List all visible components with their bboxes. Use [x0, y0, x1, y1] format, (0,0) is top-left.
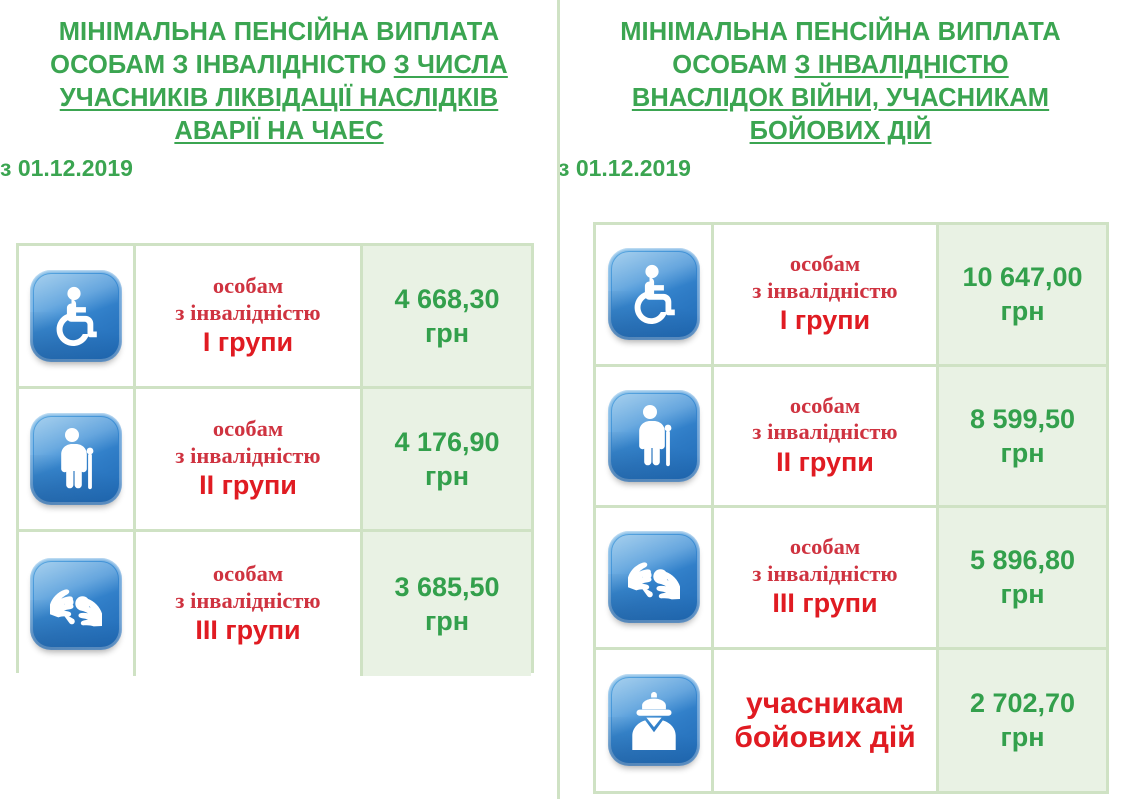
value-cell: 2 702,70 грн	[939, 650, 1106, 792]
sign-language-hands-icon	[30, 558, 122, 650]
value-amount: 2 702,70	[970, 688, 1075, 718]
person-with-cane-icon	[30, 413, 122, 505]
icon-cell	[596, 508, 714, 647]
row-label: учасникам бойових дій	[720, 686, 930, 755]
row-label: особам з інвалідністю ІІІ групи	[752, 534, 897, 620]
value-currency: грн	[970, 436, 1075, 470]
sign-language-hands-icon	[608, 531, 700, 623]
row-value: 4 176,90 грн	[394, 425, 499, 493]
value-amount: 8 599,50	[970, 404, 1075, 434]
label-cell: особам з інвалідністю І групи	[136, 246, 363, 386]
label-line-top: особам	[175, 416, 320, 443]
table-row: особам з інвалідністю ІІІ групи 3 685,50…	[19, 532, 531, 676]
label-line-mid: з інвалідністю	[752, 561, 897, 588]
row-value: 8 599,50 грн	[970, 402, 1075, 470]
value-currency: грн	[394, 604, 499, 638]
value-currency: грн	[962, 294, 1082, 328]
label-line-top: особам	[752, 393, 897, 420]
person-with-cane-icon	[608, 390, 700, 482]
table-row: особам з інвалідністю ІІ групи 8 599,50 …	[596, 367, 1106, 509]
right-title: МІНІМАЛЬНА ПЕНСІЙНА ВИПЛАТА ОСОБАМ З ІНВ…	[558, 16, 1123, 149]
label-line-group: ІІІ групи	[752, 588, 897, 620]
label-cell: особам з інвалідністю ІІ групи	[136, 389, 363, 529]
icon-cell	[596, 225, 714, 364]
label-line-group: І групи	[752, 305, 897, 337]
value-currency: грн	[394, 459, 499, 493]
row-value: 4 668,30 грн	[394, 282, 499, 350]
value-cell: 4 176,90 грн	[363, 389, 531, 529]
value-currency: грн	[394, 316, 499, 350]
row-label: особам з інвалідністю ІІІ групи	[175, 561, 320, 647]
label-line-group: ІІ групи	[752, 447, 897, 479]
label-line-mid: з інвалідністю	[175, 300, 320, 327]
value-currency: грн	[970, 720, 1075, 754]
label-line-mid: з інвалідністю	[175, 588, 320, 615]
wheelchair-icon	[30, 270, 122, 362]
left-panel: МІНІМАЛЬНА ПЕНСІЙНА ВИПЛАТА ОСОБАМ З ІНВ…	[0, 0, 558, 799]
value-amount: 4 668,30	[394, 284, 499, 314]
right-pension-table: особам з інвалідністю І групи 10 647,00 …	[593, 222, 1109, 794]
row-value: 10 647,00 грн	[962, 260, 1082, 328]
label-cell: особам з інвалідністю ІІ групи	[714, 367, 939, 506]
label-line-group: ІІІ групи	[175, 615, 320, 647]
table-row: особам з інвалідністю ІІ групи 4 176,90 …	[19, 389, 531, 532]
row-label: особам з інвалідністю ІІ групи	[752, 393, 897, 479]
row-value: 2 702,70 грн	[970, 686, 1075, 754]
value-cell: 8 599,50 грн	[939, 367, 1106, 506]
value-amount: 5 896,80	[970, 545, 1075, 575]
value-cell: 3 685,50 грн	[363, 532, 531, 676]
label-line-group: ІІ групи	[175, 470, 320, 502]
soldier-officer-icon	[608, 674, 700, 766]
icon-cell	[19, 532, 136, 676]
icon-cell	[596, 650, 714, 792]
label-line-group: І групи	[175, 327, 320, 359]
left-title-date: з 01.12.2019	[0, 155, 558, 182]
icon-cell	[19, 246, 136, 386]
label-line-top: особам	[175, 561, 320, 588]
table-row: особам з інвалідністю ІІІ групи 5 896,80…	[596, 508, 1106, 650]
value-currency: грн	[970, 577, 1075, 611]
row-label: особам з інвалідністю І групи	[752, 251, 897, 337]
panel-divider	[557, 0, 560, 799]
value-cell: 4 668,30 грн	[363, 246, 531, 386]
label-line-top: особам	[175, 273, 320, 300]
label-line-top: особам	[752, 534, 897, 561]
value-amount: 3 685,50	[394, 572, 499, 602]
label-cell: учасникам бойових дій	[714, 650, 939, 792]
label-cell: особам з інвалідністю ІІІ групи	[714, 508, 939, 647]
row-value: 3 685,50 грн	[394, 570, 499, 638]
value-cell: 10 647,00 грн	[939, 225, 1106, 364]
wheelchair-icon	[608, 248, 700, 340]
left-header: МІНІМАЛЬНА ПЕНСІЙНА ВИПЛАТА ОСОБАМ З ІНВ…	[0, 0, 558, 182]
value-amount: 10 647,00	[962, 262, 1082, 292]
row-label: особам з інвалідністю ІІ групи	[175, 416, 320, 502]
value-cell: 5 896,80 грн	[939, 508, 1106, 647]
value-amount: 4 176,90	[394, 427, 499, 457]
label-line-mid: з інвалідністю	[175, 443, 320, 470]
table-row: особам з інвалідністю І групи 10 647,00 …	[596, 225, 1106, 367]
label-cell: особам з інвалідністю ІІІ групи	[136, 532, 363, 676]
table-row: особам з інвалідністю І групи 4 668,30 г…	[19, 246, 531, 389]
label-cell: особам з інвалідністю І групи	[714, 225, 939, 364]
icon-cell	[596, 367, 714, 506]
row-value: 5 896,80 грн	[970, 543, 1075, 611]
infographic-board: МІНІМАЛЬНА ПЕНСІЙНА ВИПЛАТА ОСОБАМ З ІНВ…	[0, 0, 1123, 799]
right-title-date: з 01.12.2019	[558, 155, 1123, 182]
label-line-group: учасникам бойових дій	[720, 687, 930, 755]
label-line-mid: з інвалідністю	[752, 419, 897, 446]
row-label: особам з інвалідністю І групи	[175, 273, 320, 359]
left-title: МІНІМАЛЬНА ПЕНСІЙНА ВИПЛАТА ОСОБАМ З ІНВ…	[0, 16, 558, 149]
label-line-top: особам	[752, 251, 897, 278]
label-line-mid: з інвалідністю	[752, 278, 897, 305]
left-pension-table: особам з інвалідністю І групи 4 668,30 г…	[16, 243, 534, 673]
table-row: учасникам бойових дій 2 702,70 грн	[596, 650, 1106, 792]
right-header: МІНІМАЛЬНА ПЕНСІЙНА ВИПЛАТА ОСОБАМ З ІНВ…	[558, 0, 1123, 182]
icon-cell	[19, 389, 136, 529]
